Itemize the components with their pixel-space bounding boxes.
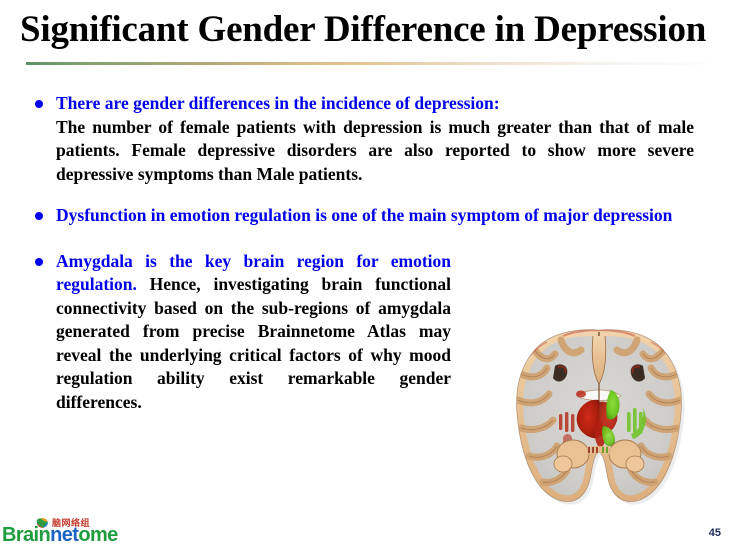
bullet-dot-icon xyxy=(35,212,43,220)
bullet-3-text: Amygdala is the key brain region for emo… xyxy=(56,250,451,415)
logo-chinese-text: 脑网络组 xyxy=(52,516,90,529)
page-title: Significant Gender Difference in Depress… xyxy=(20,8,720,52)
bullet-1-text: There are gender differences in the inci… xyxy=(56,92,694,186)
title-divider-rule xyxy=(26,62,718,65)
bullet-2-lead: Dysfunction in emotion regulation is one… xyxy=(56,205,672,225)
logo-mark-row: 脑网络组 xyxy=(34,516,104,529)
bullet-2-text: Dysfunction in emotion regulation is one… xyxy=(56,204,694,228)
bullet-item-2: Dysfunction in emotion regulation is one… xyxy=(0,204,731,228)
hippocampus-right xyxy=(626,456,644,472)
bullet-1-rest: The number of female patients with depre… xyxy=(56,116,694,187)
bullet-item-1: There are gender differences in the inci… xyxy=(0,92,731,186)
bullet-3-rest: Hence, investigating brain functional co… xyxy=(56,274,451,412)
brain-coronal-slice-image xyxy=(503,322,695,512)
page-number: 45 xyxy=(709,527,721,539)
logo-letter-b: B xyxy=(2,524,16,546)
hippocampus-left xyxy=(554,456,572,472)
brain-logo-icon xyxy=(34,517,50,529)
bullet-1-lead: There are gender differences in the inci… xyxy=(56,92,694,116)
bullet-dot-icon xyxy=(35,100,43,108)
brain-slice-svg xyxy=(503,322,695,512)
bullet-dot-icon xyxy=(35,258,43,266)
